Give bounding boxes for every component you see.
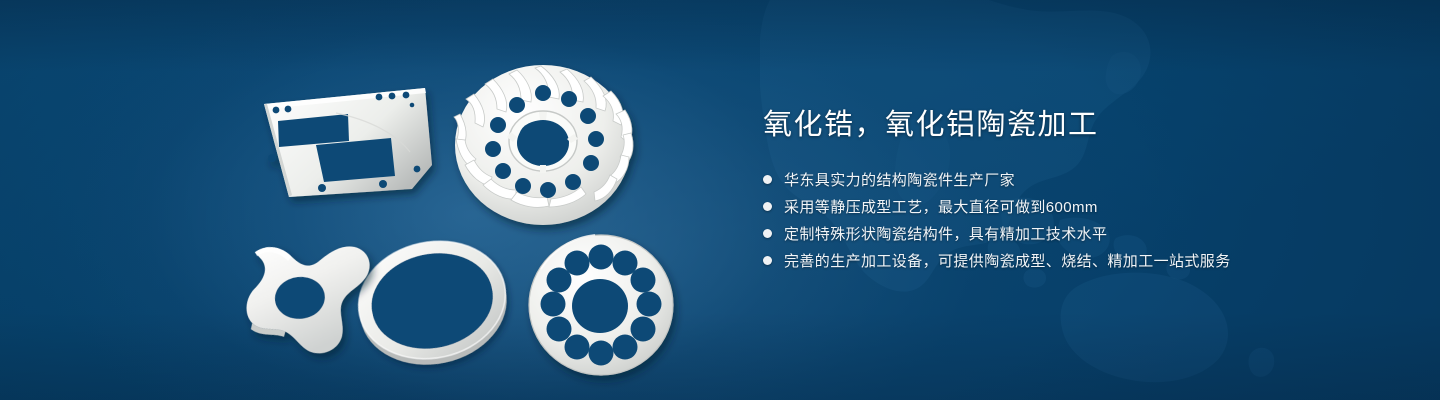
list-item: 华东具实力的结构陶瓷件生产厂家 xyxy=(763,168,1363,192)
ceramic-holed-disc-part xyxy=(529,235,673,375)
list-item: 完善的生产加工设备，可提供陶瓷成型、烧结、精加工一站式服务 xyxy=(763,249,1363,273)
list-item: 定制特殊形状陶瓷结构件，具有精加工技术水平 xyxy=(763,222,1363,246)
ceramic-impeller-part xyxy=(454,65,633,225)
ceramic-products-image xyxy=(0,0,740,400)
bullet-dot-icon xyxy=(763,202,772,211)
promo-banner: 氧化锆，氧化铝陶瓷加工 华东具实力的结构陶瓷件生产厂家 采用等静压成型工艺，最大… xyxy=(0,0,1440,400)
bullet-dot-icon xyxy=(763,256,772,265)
banner-feature-list: 华东具实力的结构陶瓷件生产厂家 采用等静压成型工艺，最大直径可做到600mm 定… xyxy=(763,168,1363,273)
list-item: 采用等静压成型工艺，最大直径可做到600mm xyxy=(763,195,1363,219)
feature-text: 华东具实力的结构陶瓷件生产厂家 xyxy=(784,169,1015,190)
feature-text: 采用等静压成型工艺，最大直径可做到600mm xyxy=(784,196,1098,217)
bullet-dot-icon xyxy=(763,229,772,238)
ceramic-cross-part xyxy=(240,237,378,361)
feature-text: 完善的生产加工设备，可提供陶瓷成型、烧结、精加工一站式服务 xyxy=(784,250,1231,271)
banner-headline: 氧化锆，氧化铝陶瓷加工 xyxy=(763,108,1363,143)
ceramic-ring-part xyxy=(348,228,518,378)
feature-text: 定制特殊形状陶瓷结构件，具有精加工技术水平 xyxy=(784,223,1107,244)
bullet-dot-icon xyxy=(763,175,772,184)
ceramic-plate-part xyxy=(264,88,432,197)
banner-text-block: 氧化锆，氧化铝陶瓷加工 华东具实力的结构陶瓷件生产厂家 采用等静压成型工艺，最大… xyxy=(763,108,1363,276)
